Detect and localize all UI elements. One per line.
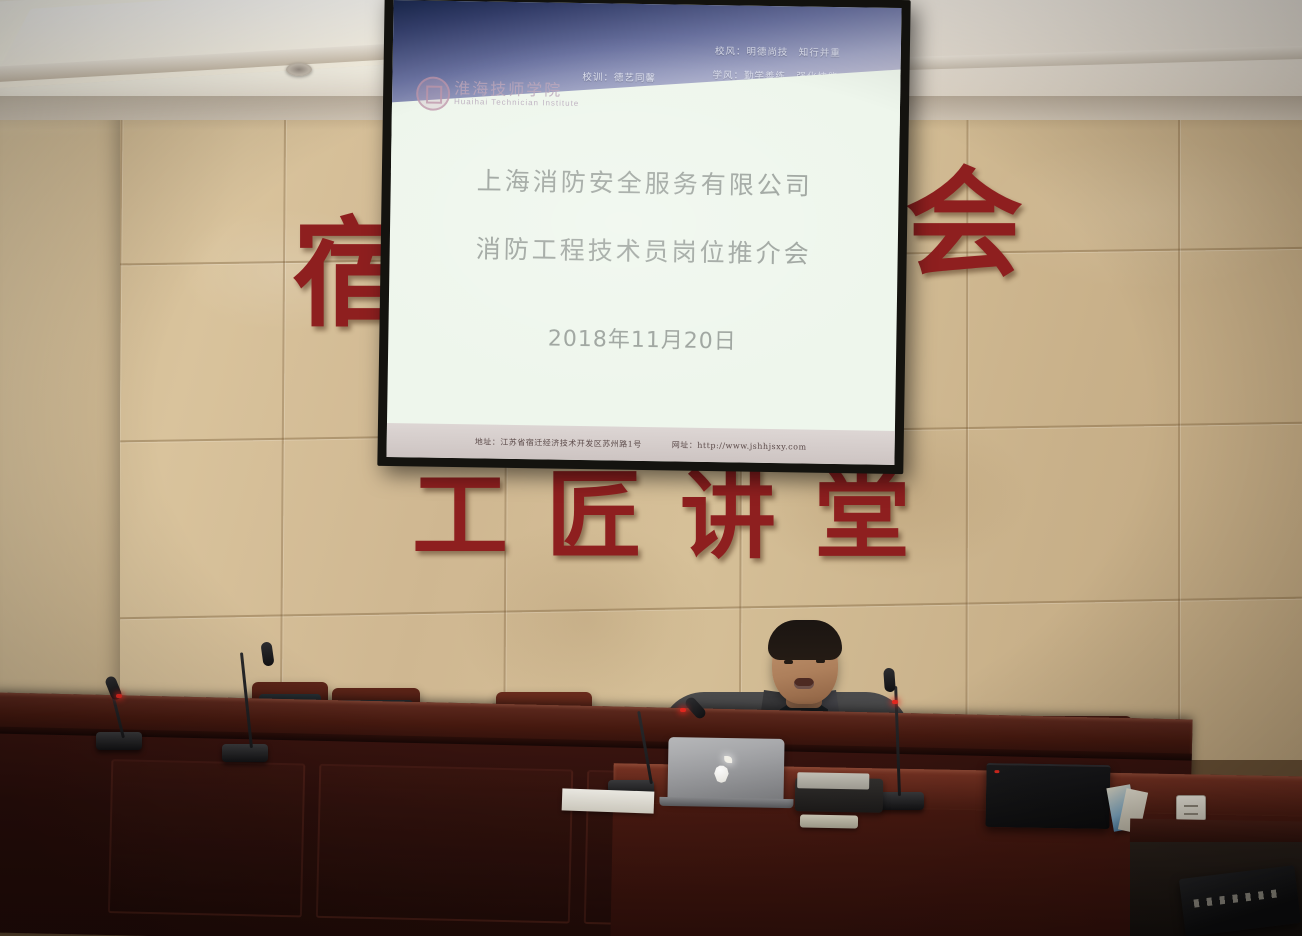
eye-left bbox=[784, 660, 793, 664]
slide-motto-2: 教风：立德厚生 务实创新 bbox=[578, 91, 704, 107]
slide-motto-1: 校训：德艺同馨 bbox=[582, 69, 656, 84]
slide-line-company: 上海消防安全服务有限公司 bbox=[391, 160, 900, 204]
slide-motto-3: 校风：明德尚技 知行并重 bbox=[715, 43, 841, 59]
slide-footer-address: 地址：江苏省宿迁经济技术开发区苏州路1号 bbox=[475, 436, 642, 450]
mouth bbox=[794, 678, 814, 689]
downlight-icon-1 bbox=[286, 63, 312, 76]
portfolio-bag bbox=[795, 777, 884, 813]
macbook-laptop bbox=[667, 737, 784, 803]
projector-screen: 校训：德艺同馨 教风：立德厚生 务实创新 校风：明德尚技 知行并重 学风：勤学善… bbox=[377, 0, 910, 474]
screen-surface: 校训：德艺同馨 教风：立德厚生 务实创新 校风：明德尚技 知行并重 学风：勤学善… bbox=[386, 0, 901, 465]
remote-control bbox=[800, 814, 858, 828]
left-wall-return bbox=[0, 70, 120, 730]
laptop-power-led-icon bbox=[994, 770, 999, 773]
eye-right bbox=[816, 659, 825, 663]
wall-outlet-icon bbox=[1176, 795, 1206, 821]
paper-sheet bbox=[562, 788, 655, 813]
wall-headline-text: 工匠讲堂 bbox=[412, 468, 948, 564]
black-laptop bbox=[985, 763, 1110, 829]
slide-header-band: 校训：德艺同馨 教风：立德厚生 务实创新 校风：明德尚技 知行并重 学风：勤学善… bbox=[392, 0, 902, 126]
bag-papers bbox=[797, 772, 869, 789]
apple-logo-leaf-icon bbox=[724, 756, 732, 763]
slide-line-date: 2018年11月20日 bbox=[388, 318, 896, 358]
slide-footer-website: 网址：http://www.jshhjsxy.com bbox=[672, 439, 807, 452]
wall-character-top-right: 会 bbox=[905, 165, 1023, 283]
equipment-labels bbox=[1193, 889, 1277, 907]
ceiling-rail bbox=[855, 46, 1302, 72]
hair bbox=[768, 620, 842, 660]
slide-body: 上海消防安全服务有限公司 消防工程技术员岗位推介会 2018年11月20日 bbox=[387, 118, 900, 425]
slide-motto-4: 学风：勤学善练 强化技能 bbox=[712, 67, 838, 83]
conference-room-photo: 宿 会 工匠讲堂 校训：德艺同馨 教风：立德厚生 务实创新 校风：明德尚技 知行… bbox=[0, 0, 1302, 936]
slide-line-topic: 消防工程技术员岗位推介会 bbox=[389, 228, 898, 272]
